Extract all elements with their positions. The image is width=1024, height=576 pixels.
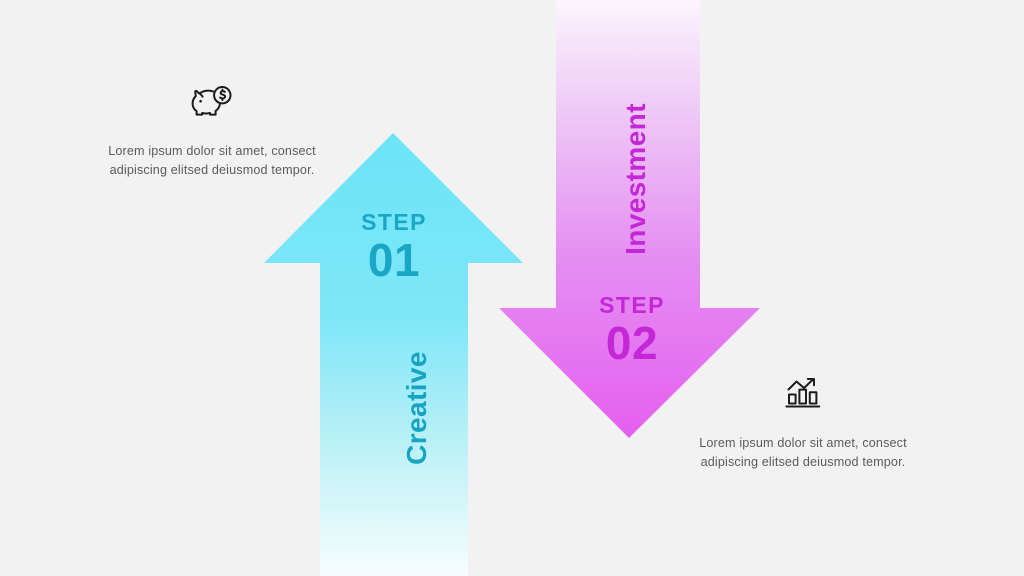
callout-step-01-description: Lorem ipsum dolor sit amet, consect adip… <box>107 142 317 180</box>
callout-step-02-description: Lorem ipsum dolor sit amet, consect adip… <box>698 434 908 472</box>
bar-chart-growth-icon <box>780 372 826 412</box>
callout-step-01: Lorem ipsum dolor sit amet, consect adip… <box>107 80 317 180</box>
infographic-canvas: STEP 01 Creative STEP 02 Investment <box>0 0 1024 576</box>
arrow-up-cyan <box>264 133 523 576</box>
piggy-bank-icon <box>189 80 235 120</box>
callout-step-02: Lorem ipsum dolor sit amet, consect adip… <box>698 372 908 472</box>
